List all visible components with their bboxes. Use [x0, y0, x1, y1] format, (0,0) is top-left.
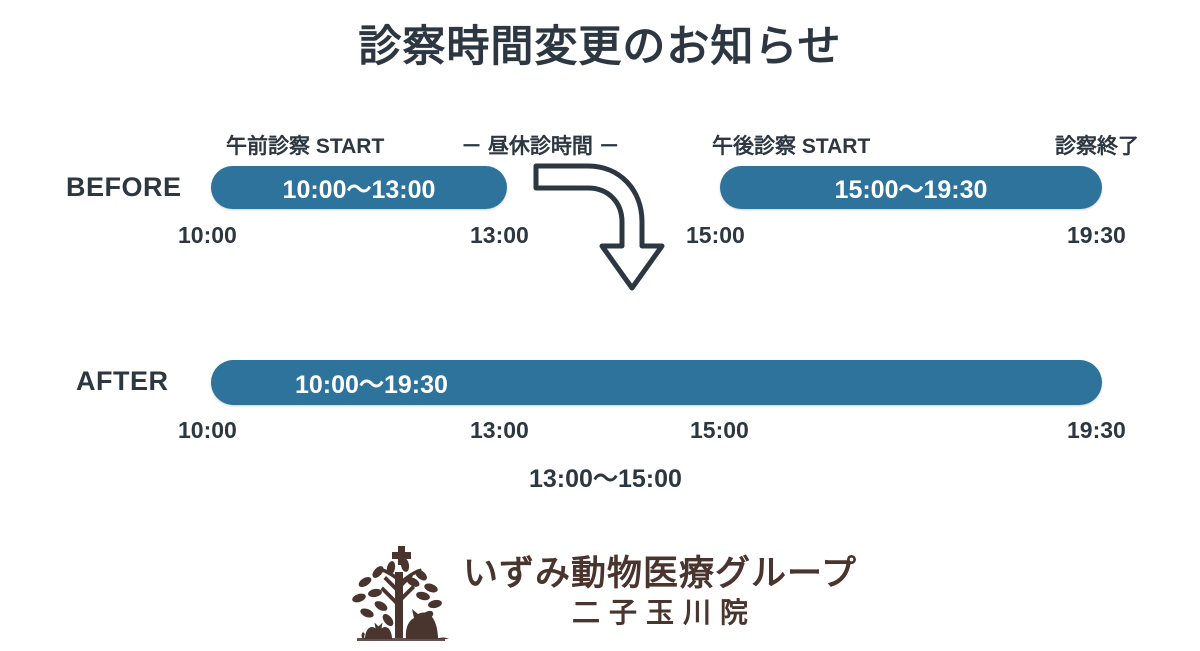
caption-closing: 診察終了: [1055, 130, 1139, 160]
before-tick-19-30: 19:30: [1067, 222, 1126, 249]
clinic-branch: 二子玉川院: [563, 596, 757, 630]
after-tick-19-30: 19:30: [1067, 417, 1126, 444]
curved-down-arrow-icon: [528, 158, 668, 298]
caption-morning-start: 午前診察 START: [226, 130, 384, 160]
after-tick-15-00: 15:00: [690, 417, 749, 444]
before-tick-15-00: 15:00: [686, 222, 745, 249]
page-title: 診察時間変更のお知らせ: [0, 12, 1200, 74]
clinic-name: いずみ動物医療グループ: [463, 554, 857, 594]
after-tick-13-00: 13:00: [470, 417, 529, 444]
before-morning-bar-text: 10:00〜13:00: [211, 166, 507, 209]
tree-with-cat-and-dog-icon: [343, 538, 451, 646]
after-lunch-note: 13:00〜15:00: [529, 459, 682, 495]
after-bar-text: 10:00〜19:30: [295, 360, 448, 405]
clinic-logo: いずみ動物医療グループ 二子玉川院: [0, 534, 1200, 650]
before-afternoon-bar-text: 15:00〜19:30: [720, 166, 1102, 209]
caption-afternoon-start: 午後診察 START: [712, 130, 870, 160]
before-tick-10-00: 10:00: [178, 222, 237, 249]
after-row-label: AFTER: [76, 366, 169, 397]
after-bar: 10:00〜19:30: [211, 360, 1102, 405]
after-tick-10-00: 10:00: [178, 417, 237, 444]
before-tick-13-00: 13:00: [470, 222, 529, 249]
before-morning-bar: 10:00〜13:00: [211, 166, 507, 209]
clinic-logo-text: いずみ動物医療グループ 二子玉川院: [463, 554, 857, 630]
notice-slide: { "title": "診察時間変更のお知らせ", "colors": { "b…: [0, 0, 1200, 650]
before-afternoon-bar: 15:00〜19:30: [720, 166, 1102, 209]
before-row-label: BEFORE: [66, 172, 182, 203]
caption-lunch-break: － 昼休診時間 －: [461, 130, 620, 160]
